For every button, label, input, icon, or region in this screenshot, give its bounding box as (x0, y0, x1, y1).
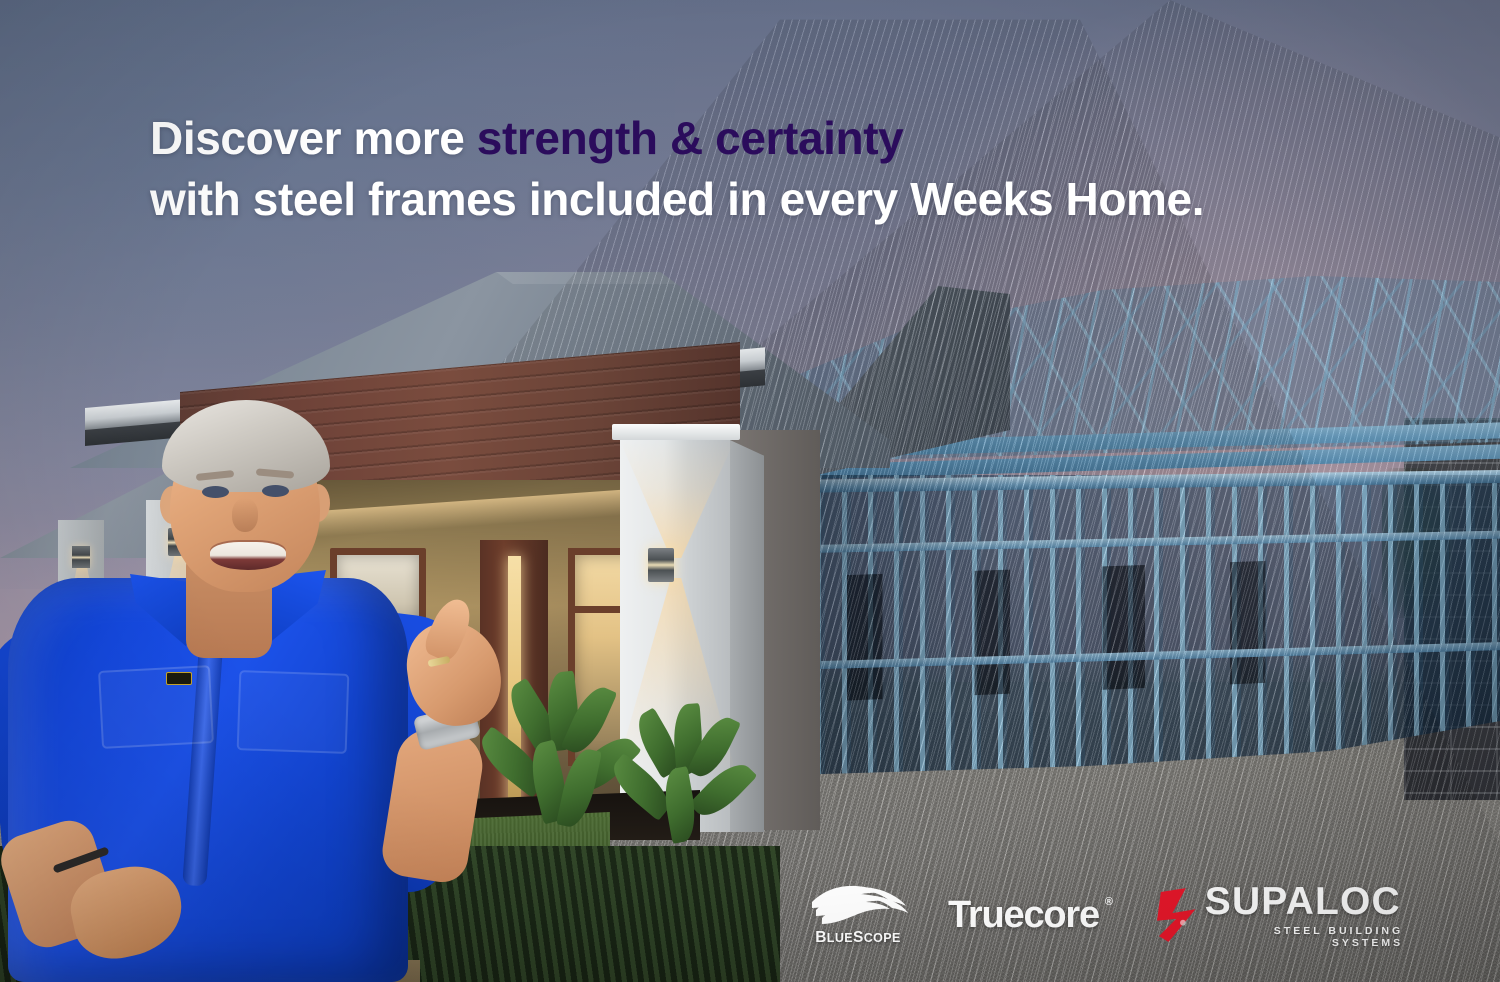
supaloc-logo: SUPALOC STEEL BUILDING SYSTEMS (1157, 882, 1403, 949)
headline-line-1-accent: strength & certainty (477, 112, 904, 164)
column-cap (612, 424, 740, 440)
column-wall-light (648, 548, 674, 582)
headline-line-2: with steel frames included in every Week… (150, 169, 1370, 230)
feature-plant-secondary (620, 704, 740, 854)
eye-right (262, 485, 289, 497)
bluescope-wordmark: BLUESCOPE (815, 929, 901, 947)
presenter-pointing (0, 400, 520, 982)
supaloc-text-block: SUPALOC STEEL BUILDING SYSTEMS (1205, 882, 1403, 949)
bluescope-cope: COPE (864, 931, 901, 945)
logo-bar: BLUESCOPE Truecore ® SUPALOC STEEL BUILD… (806, 872, 1336, 958)
truecore-trademark: ® (1105, 896, 1113, 908)
bluescope-lue: LUE (827, 931, 853, 945)
truecore-logo: Truecore ® (948, 894, 1113, 937)
nose (232, 498, 258, 532)
bluescope-b: B (815, 929, 827, 946)
bluescope-s: S (853, 929, 864, 946)
supaloc-lightning-mark (1157, 885, 1211, 945)
bluescope-ribbon-mark (806, 883, 910, 927)
promo-banner: Discover more strength & certainty with … (0, 0, 1500, 982)
headline-line-1: Discover more strength & certainty (150, 108, 1370, 169)
headline: Discover more strength & certainty with … (150, 108, 1370, 229)
supaloc-tagline: STEEL BUILDING SYSTEMS (1205, 925, 1403, 949)
shirt-brand-tag (166, 672, 192, 685)
truecore-wordmark: Truecore (948, 894, 1099, 937)
supaloc-wordmark: SUPALOC (1205, 882, 1403, 921)
smiling-mouth (210, 542, 286, 570)
shirt-pocket-right (237, 670, 350, 754)
eye-left (202, 486, 229, 498)
hair (162, 400, 330, 492)
headline-line-1-white: Discover more (150, 112, 477, 164)
bluescope-logo: BLUESCOPE (806, 883, 910, 947)
